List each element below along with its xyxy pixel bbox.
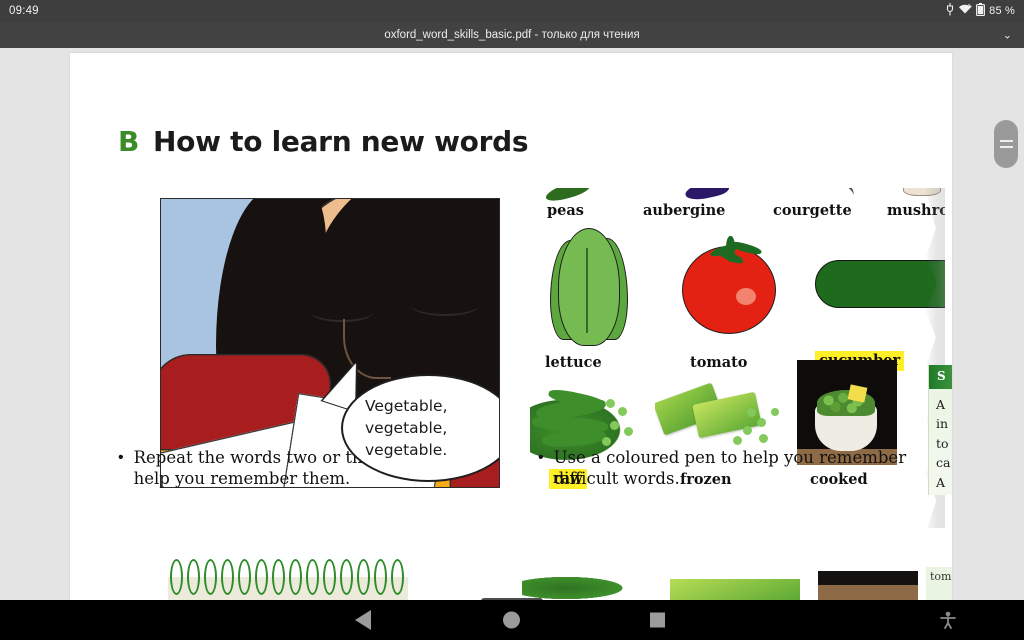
status-bar: 09:49 85 % [0,0,1024,22]
butter-pat-shape [848,384,868,402]
chevron-down-icon[interactable]: ⌄ [1003,29,1012,42]
usb-charging-icon [946,3,954,20]
back-button[interactable] [355,610,371,630]
spelling-tip-body: A in to ca A [929,389,952,492]
illustration-woman-reading: Vegetable, vegetable, vegetable. [160,198,500,488]
tip-line-5: A [936,473,952,492]
bottom-photo-raw-peas [522,575,632,600]
courgette-sliver-icon [823,188,857,202]
veg-label-lettuce: lettuce [545,354,602,371]
page-title: BHow to learn new words [118,125,528,158]
bottom-photo-frozen-peas [670,579,800,600]
bottom-photo-cooked-peas [818,571,918,600]
accessibility-icon[interactable] [940,611,956,629]
status-bar-right: 85 % [946,3,1015,20]
tip-line-1: A [936,395,952,414]
tomato-highlight [736,288,756,305]
tip-line-2: in [936,414,952,433]
wifi-icon [958,3,972,19]
section-letter: B [118,125,139,158]
bottom-partial-label: toma [926,570,952,583]
battery-percent-label: 85 % [989,5,1015,17]
section-heading-text: How to learn new words [153,125,528,158]
veg-label-aubergine: aubergine [643,202,725,219]
speech-line-3: vegetable. [365,439,500,461]
pdf-viewer[interactable]: BHow to learn new words [0,48,1024,600]
status-bar-left: 09:49 [9,5,39,17]
spiral-binding-illustration [170,559,400,600]
pdf-page-content: BHow to learn new words [70,63,952,600]
page-bottom-partial-images: toma [70,555,952,600]
spelling-tip-header: S [929,365,952,389]
veg-label-tomato: tomato [690,354,747,371]
android-navigation-bar [0,600,1024,640]
device-screen: 09:49 85 % oxford_word_skills_basic.pdf … [0,0,1024,640]
pdf-page: BHow to learn new words [70,53,952,600]
bottom-side-box: toma [926,567,952,600]
aubergine-sliver-icon [684,188,730,202]
bullet-dot-icon: • [538,448,544,490]
clock: 09:49 [9,5,39,17]
bowl-peas-shape [817,390,875,416]
home-button[interactable] [503,612,520,629]
cucumber-illustration [815,260,945,308]
page-number-indicator: 12 из 254 [481,598,543,600]
veg-label-courgette: courgette [773,202,852,219]
speech-line-1: Vegetable, [365,395,500,417]
bullet-item-2: • Use a coloured pen to help you remembe… [538,448,909,490]
bullet-dot-icon: • [118,448,124,490]
document-title: oxford_word_skills_basic.pdf - только дл… [384,29,639,41]
speech-line-2: vegetable, [365,417,500,439]
app-title-bar: oxford_word_skills_basic.pdf - только дл… [0,22,1024,48]
tip-line-3: to [936,434,952,453]
recents-button[interactable] [650,613,665,628]
veg-label-peas: peas [547,202,584,219]
tomato-illustration [680,236,780,336]
tip-line-4: ca [936,453,952,472]
tomato-stem [710,236,762,262]
lettuce-leaf-center [558,228,620,346]
battery-icon [976,3,985,20]
lettuce-vein [586,248,588,333]
spelling-tip-box: S A in to ca A [928,365,952,495]
bullet-text-2: Use a coloured pen to help you remember … [554,448,909,490]
eye-right-shape [411,294,479,316]
scrollbar-handle[interactable] [994,120,1018,168]
lettuce-illustration [550,228,628,346]
